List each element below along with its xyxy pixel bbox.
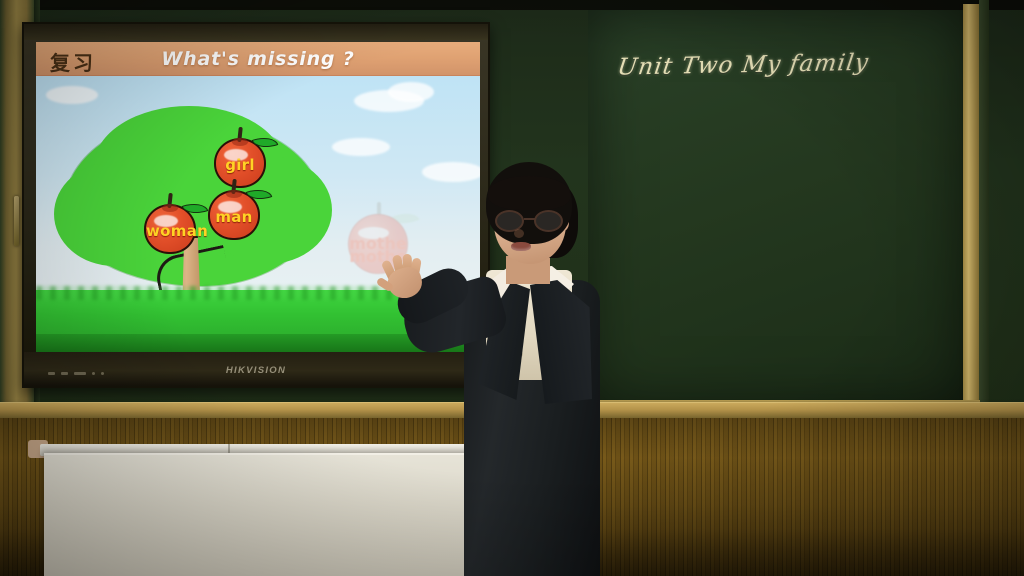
- apple-card-woman[interactable]: woman: [144, 204, 196, 254]
- teacher-gesturing-hand: [382, 254, 428, 300]
- teacher-mouth-speaking: [511, 242, 531, 251]
- glasses-icon: [494, 210, 568, 232]
- apple-dent: [226, 190, 242, 198]
- teacher-hair-fringe: [488, 176, 570, 210]
- glasses-bridge: [524, 218, 535, 220]
- display-top-bezel: [24, 24, 488, 40]
- glasses-lens-right: [534, 210, 563, 232]
- blackboard-right-frame: [963, 4, 979, 414]
- classroom-scene: Unit Two My family: [0, 0, 1024, 576]
- cloud-shape: [388, 82, 434, 102]
- apple-dent: [232, 138, 248, 146]
- ceiling-shadow-strip: [0, 0, 1024, 10]
- apple-dent: [162, 204, 178, 212]
- apple-card-man[interactable]: man: [208, 190, 260, 240]
- cloud-shape: [332, 138, 390, 156]
- slide-header-band: 复习 What's missing ?: [36, 42, 480, 76]
- apple-card-girl[interactable]: girl: [214, 138, 266, 188]
- apple-word-label: woman: [146, 222, 194, 240]
- apple-word-label: girl: [216, 156, 264, 174]
- apple-word-label: man: [210, 208, 258, 226]
- blackboard-lesson-title: Unit Two My family: [616, 49, 890, 80]
- slide-question-title: What's missing ?: [36, 48, 480, 70]
- blackboard-right-frame-outer: [979, 0, 989, 418]
- cloud-shape: [46, 86, 98, 104]
- teacher-nose: [514, 229, 524, 238]
- teacher-figure: [390, 162, 620, 576]
